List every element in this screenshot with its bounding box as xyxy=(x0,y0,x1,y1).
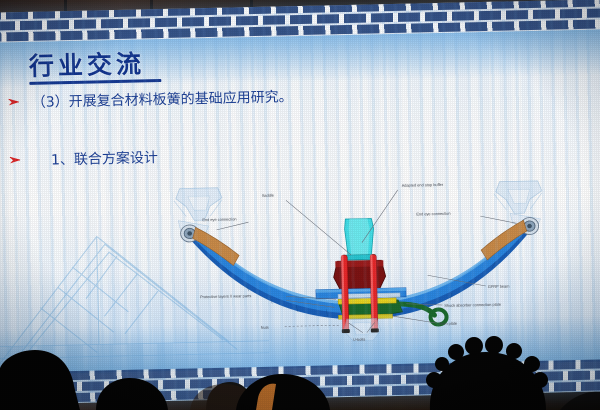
audience-silhouettes xyxy=(0,320,600,410)
conference-photo: 行业交流 （3）开展复合材料板簧的基础应用研究。 1、联合方案设计 xyxy=(0,0,600,410)
